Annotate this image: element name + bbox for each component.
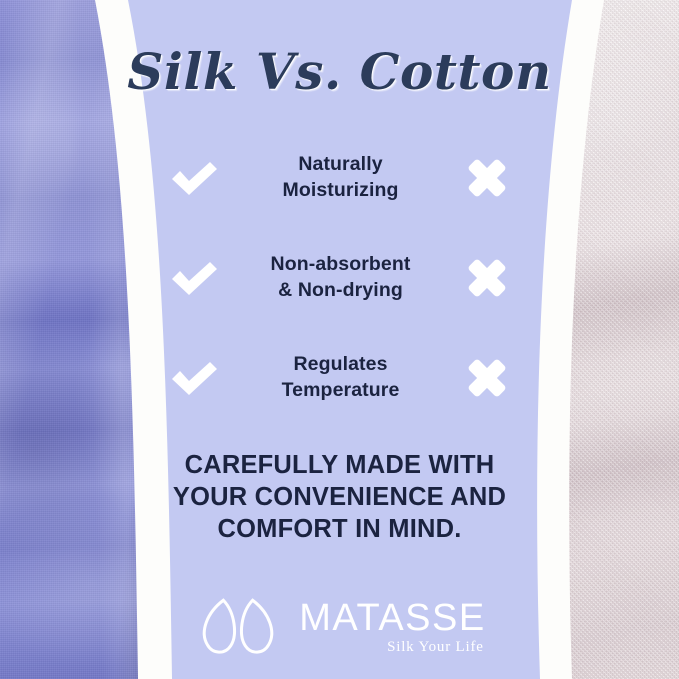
comparison-row: Naturally Moisturizing: [168, 128, 513, 228]
product-comparison-infographic: Silk Vs. Cotton Naturally Moisturizing: [0, 0, 679, 679]
brand-text: MATASSE Silk Your Life: [299, 599, 485, 656]
row-line-1: Regulates: [293, 353, 387, 375]
comparison-row-label: Naturally Moisturizing: [220, 152, 461, 203]
comparison-row-label: Non-absorbent & Non-drying: [220, 252, 461, 303]
check-icon: [168, 152, 220, 204]
brand-name: MATASSE: [299, 599, 485, 637]
cta-line-3: COMFORT IN MIND.: [0, 514, 679, 546]
row-line-1: Non-absorbent: [271, 253, 411, 275]
cross-icon: [461, 252, 513, 304]
brand-tagline: Silk Your Life: [387, 639, 484, 656]
tagline-statement: CAREFULLY MADE WITH YOUR CONVENIENCE AND…: [0, 450, 679, 546]
row-line-2: & Non-drying: [220, 278, 461, 304]
row-line-1: Naturally: [298, 153, 382, 175]
cross-icon: [461, 152, 513, 204]
check-icon: [168, 252, 220, 304]
check-icon: [168, 352, 220, 404]
row-line-2: Temperature: [220, 378, 461, 404]
comparison-row: Non-absorbent & Non-drying: [168, 228, 513, 328]
row-line-2: Moisturizing: [220, 178, 461, 204]
page-title: Silk Vs. Cotton: [0, 42, 679, 101]
brand-lockup: MATASSE Silk Your Life: [0, 596, 679, 658]
two-overlapping-petals-logo-icon: [193, 596, 285, 658]
comparison-row: Regulates Temperature: [168, 328, 513, 428]
cross-icon: [461, 352, 513, 404]
comparison-table: Naturally Moisturizing Non-absorbent & N…: [168, 128, 513, 428]
cta-line-1: CAREFULLY MADE WITH: [0, 450, 679, 482]
cta-line-2: YOUR CONVENIENCE AND: [0, 482, 679, 514]
comparison-row-label: Regulates Temperature: [220, 352, 461, 403]
